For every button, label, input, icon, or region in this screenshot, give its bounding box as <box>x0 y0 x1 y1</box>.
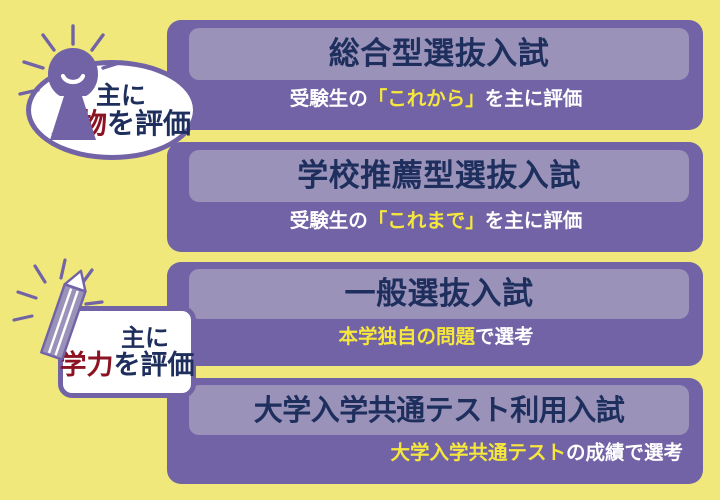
subtitle-prefix: 受験生の <box>290 89 368 109</box>
exam-card-gakko-suisen[interactable]: 学校推薦型選抜入試 受験生の「これまで」を主に評価 <box>167 142 703 252</box>
exam-card-title-box: 学校推薦型選抜入試 <box>189 150 689 202</box>
subtitle-suffix: を主に評価 <box>485 211 583 231</box>
callout-line-1: 主に <box>121 326 169 350</box>
exam-card-title-box: 総合型選抜入試 <box>189 28 689 80</box>
subtitle-highlight: 大学入学共通テスト <box>390 443 566 463</box>
subtitle-suffix: で選考 <box>475 327 534 347</box>
exam-card-title: 学校推薦型選抜入試 <box>297 161 581 192</box>
exam-card-subtitle: 本学独自の問題で選考 <box>189 322 683 352</box>
exam-card-subtitle: 受験生の「これまで」を主に評価 <box>189 206 683 236</box>
exam-card-subtitle: 受験生の「これから」を主に評価 <box>189 84 683 114</box>
subtitle-suffix: の成績で選考 <box>566 443 683 463</box>
exam-card-kyotsu-test[interactable]: 大学入学共通テスト利用入試 大学入学共通テストの成績で選考 <box>167 378 703 484</box>
pencil-sparkle-icon <box>8 258 116 370</box>
subtitle-suffix: を主に評価 <box>485 89 583 109</box>
exam-card-ippan[interactable]: 一般選抜入試 本学独自の問題で選考 <box>167 262 703 366</box>
exam-card-title: 総合型選抜入試 <box>329 39 550 70</box>
subtitle-highlight: 「これから」 <box>368 89 485 109</box>
exam-card-title: 一般選抜入試 <box>345 279 534 310</box>
exam-card-sogogata[interactable]: 総合型選抜入試 受験生の「これから」を主に評価 <box>167 20 703 130</box>
subtitle-highlight: 本学独自の問題 <box>338 327 475 347</box>
callout-keyword-suffix: を評価 <box>114 350 195 381</box>
subtitle-highlight: 「これまで」 <box>368 211 485 231</box>
infographic-canvas: 総合型選抜入試 受験生の「これから」を主に評価 学校推薦型選抜入試 受験生の「こ… <box>0 0 720 500</box>
exam-card-title-box: 一般選抜入試 <box>189 269 689 319</box>
exam-card-title: 大学入学共通テスト利用入試 <box>254 396 625 425</box>
person-sparkle-icon <box>16 22 134 144</box>
exam-card-title-box: 大学入学共通テスト利用入試 <box>189 385 689 435</box>
exam-card-subtitle: 大学入学共通テストの成績で選考 <box>189 438 683 468</box>
subtitle-prefix: 受験生の <box>290 211 368 231</box>
